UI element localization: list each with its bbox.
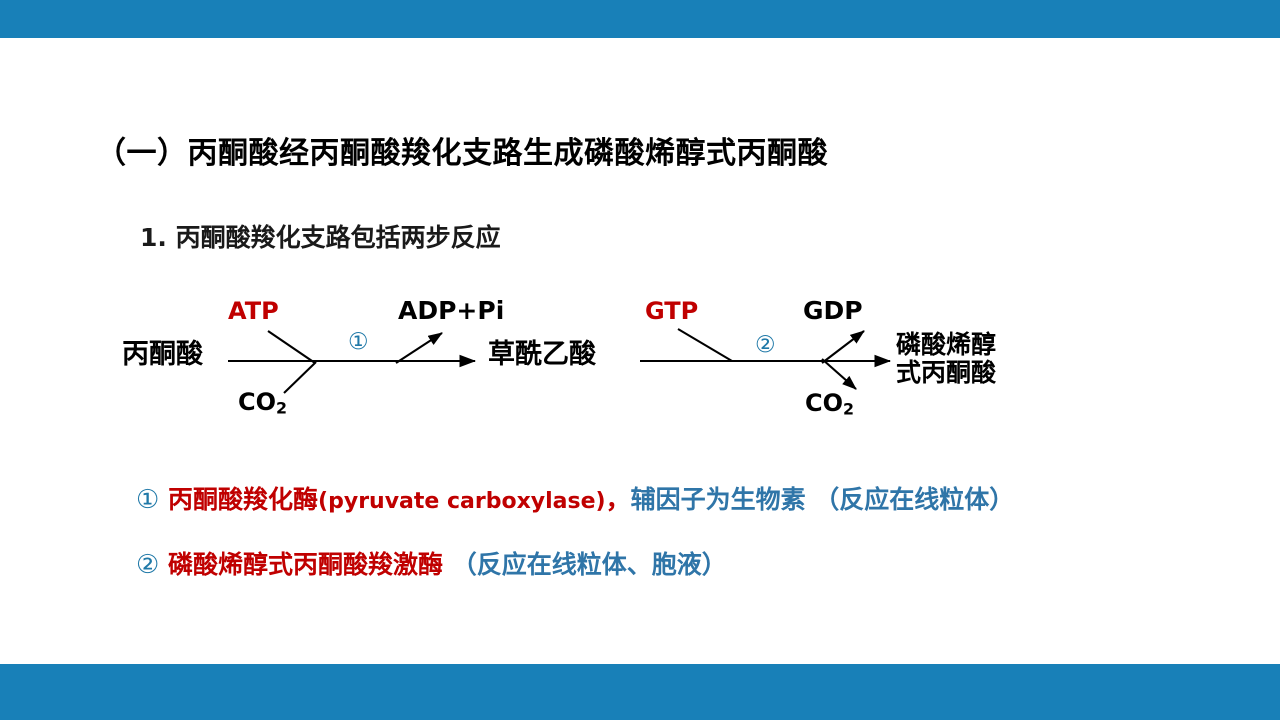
step1-adp-outflow-arrow	[396, 333, 442, 363]
diagram-label-pyruvate: 丙酮酸	[122, 340, 203, 370]
legend-item-1: ① 丙酮酸羧化酶(pyruvate carboxylase)，辅因子为生物素 （…	[136, 480, 1256, 516]
slide-bottom-accent-bar	[0, 664, 1280, 720]
reaction-diagram: 丙酮酸 ATP ADP+Pi CO2 ① 草酰乙酸 GTP GDP CO2 ② …	[100, 285, 1100, 445]
legend-item-2: ② 磷酸烯醇式丙酮酸羧激酶 （反应在线粒体、胞液）	[136, 545, 1256, 581]
diagram-label-gdp: GDP	[803, 297, 863, 325]
diagram-label-pep: 磷酸烯醇 式丙酮酸	[896, 331, 996, 387]
pep-line-2: 式丙酮酸	[896, 359, 996, 387]
diagram-label-atp: ATP	[228, 298, 279, 325]
step2-gtp-inflow-line	[678, 329, 732, 361]
step1-co2-inflow-line	[284, 362, 316, 393]
legend-1-enzyme-cn: 丙酮酸羧化酶	[168, 485, 318, 514]
legend-1-enzyme-en: (pyruvate carboxylase)	[318, 489, 606, 514]
pep-line-1: 磷酸烯醇	[896, 331, 996, 359]
diagram-label-co2-out: CO2	[805, 390, 854, 418]
diagram-label-gtp: GTP	[645, 298, 698, 325]
diagram-step1-marker: ①	[348, 329, 369, 355]
step2-co2-outflow-arrow	[822, 359, 856, 389]
diagram-step2-marker: ②	[755, 332, 776, 358]
diagram-label-oxaloacetate: 草酰乙酸	[488, 340, 596, 370]
legend-1-marker: ①	[136, 485, 159, 515]
legend-2-enzyme-cn: 磷酸烯醇式丙酮酸羧激酶	[168, 550, 443, 579]
step2-gdp-outflow-arrow	[822, 331, 864, 363]
co2-out-formula: CO	[805, 389, 843, 417]
page-title: （一）丙酮酸经丙酮酸羧化支路生成磷酸烯醇式丙酮酸	[96, 128, 828, 172]
co2-in-subscript: 2	[276, 398, 287, 417]
legend-2-marker: ②	[136, 550, 159, 580]
diagram-label-co2-in: CO2	[238, 389, 287, 417]
slide-top-accent-bar	[0, 0, 1280, 38]
legend-1-separator: ，	[606, 485, 631, 514]
co2-in-formula: CO	[238, 388, 276, 416]
legend-1-note: 辅因子为生物素 （反应在线粒体）	[631, 485, 1015, 514]
legend-2-note: （反应在线粒体、胞液）	[452, 550, 727, 579]
slide-subtitle: 1. 丙酮酸羧化支路包括两步反应	[140, 218, 501, 254]
diagram-label-adp-pi: ADP+Pi	[398, 297, 504, 325]
step1-atp-inflow-line	[268, 331, 315, 363]
co2-out-subscript: 2	[843, 399, 854, 418]
